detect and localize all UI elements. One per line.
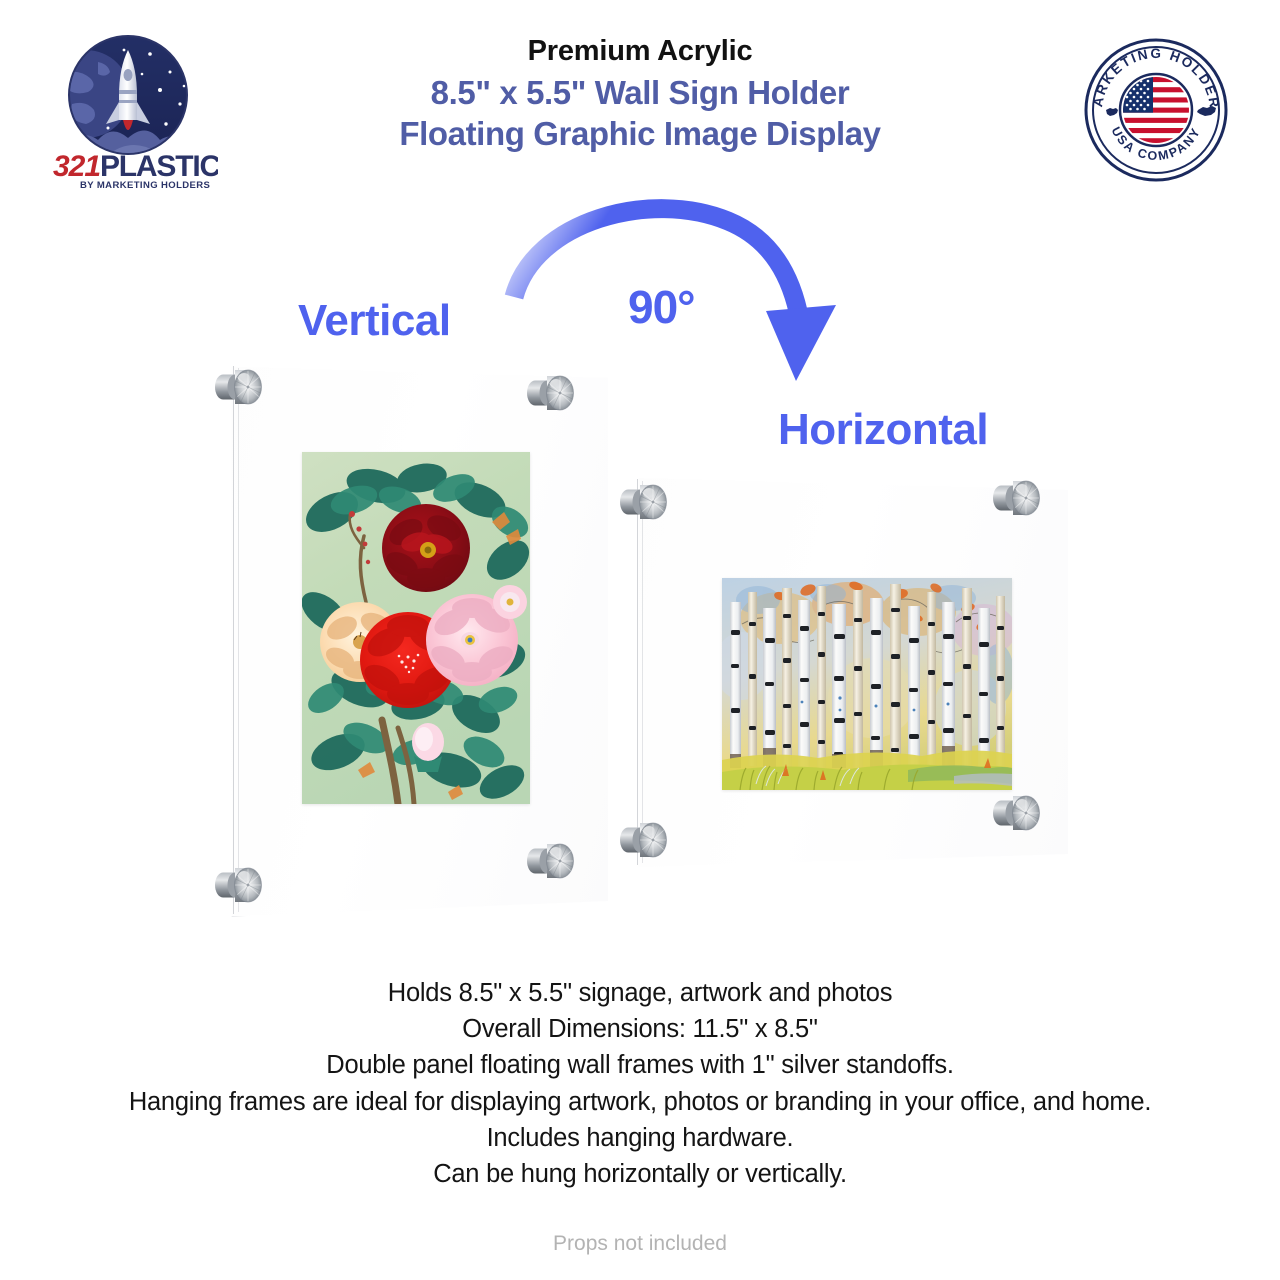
standoff-horizontal-top-left [615,477,671,527]
feature-line: Double panel floating wall frames with 1… [0,1047,1280,1083]
horizontal-wall-frame [618,472,1068,872]
standoff-horizontal-top-right [988,473,1044,523]
standoff-vertical-top-right [522,368,578,418]
title-line-display: Floating Graphic Image Display [290,115,990,154]
artwork-birch-forest [722,578,1012,790]
label-horizontal: Horizontal [778,405,988,455]
title-line-premium: Premium Acrylic [290,34,990,68]
standoff-vertical-top-left [210,362,266,412]
svg-text:BY MARKETING HOLDERS: BY MARKETING HOLDERS [80,180,210,191]
vertical-wall-frame [218,360,608,920]
props-disclaimer: Props not included [0,1232,1280,1256]
page-title: Premium Acrylic 8.5" x 5.5" Wall Sign Ho… [290,34,990,154]
marketing-holders-usa-badge: MARKETING HOLDERS USA COMPANY [1082,36,1230,184]
rotation-angle-label: 90° [628,280,695,334]
title-line-size: 8.5" x 5.5" Wall Sign Holder [290,74,990,113]
feature-line: Hanging frames are ideal for displaying … [0,1084,1280,1120]
feature-list: Holds 8.5" x 5.5" signage, artwork and p… [0,975,1280,1192]
standoff-vertical-bottom-left [210,860,266,910]
feature-line: Can be hung horizontally or vertically. [0,1156,1280,1192]
feature-line: Holds 8.5" x 5.5" signage, artwork and p… [0,975,1280,1011]
label-vertical: Vertical [298,296,451,346]
standoff-vertical-bottom-right [522,836,578,886]
standoff-horizontal-bottom-right [988,788,1044,838]
product-infographic: 321 PLASTICS BY MARKETING HOLDERS [0,0,1280,1280]
brand-logo-321plastics: 321 PLASTICS BY MARKETING HOLDERS [38,28,218,193]
standoff-horizontal-bottom-left [615,815,671,865]
svg-text:321: 321 [53,150,100,183]
feature-line: Overall Dimensions: 11.5" x 8.5" [0,1011,1280,1047]
svg-text:PLASTICS: PLASTICS [100,150,218,183]
feature-line: Includes hanging hardware. [0,1120,1280,1156]
artwork-peony [302,452,530,804]
